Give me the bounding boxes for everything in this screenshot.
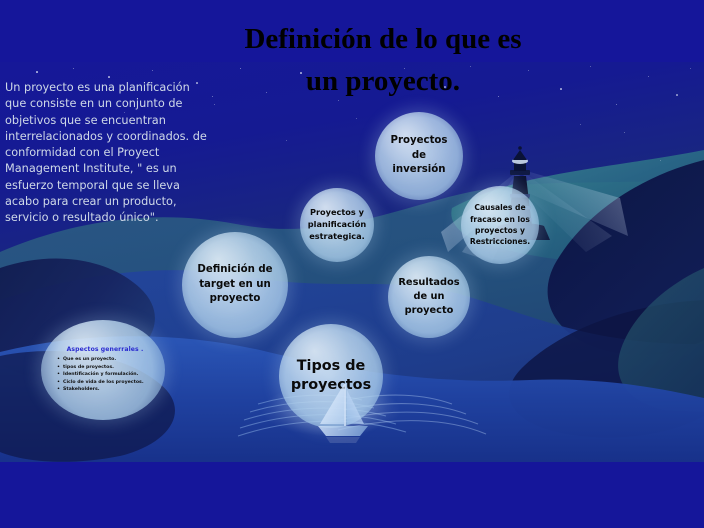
bottom-letterbox-band [0,462,704,528]
aspectos-heading: Aspectos generrales . [51,346,159,353]
bubble-label: Proyectos y planificación estrategica. [302,207,372,243]
list-item: Que es un proyecto. [63,356,159,364]
aspectos-content: Aspectos generrales . Que es un proyecto… [41,346,165,394]
intro-paragraph: Un proyecto es una planificación que con… [5,80,213,226]
prezi-canvas: Definición de lo que es un proyecto. Un … [0,0,704,528]
bubble-definicion-de-target[interactable]: Definición de target en un proyecto [182,232,288,338]
bubble-resultados-de-un-proyecto[interactable]: Resultados de un proyecto [388,256,470,338]
list-item: Identificación y formulación. [63,371,159,379]
bubble-causales-de-fracaso[interactable]: Causales de fracaso en los proyectos y R… [461,186,539,264]
bubble-label: Resultados de un proyecto [392,276,465,319]
bubble-label: Definición de target en un proyecto [191,263,278,307]
aspectos-list: Que es un proyecto. tipos de proyectos. … [51,356,159,394]
sailboat-icon [310,380,380,448]
bubble-proyectos-y-planificacion-estrategica[interactable]: Proyectos y planificación estrategica. [300,188,374,262]
list-item: tipos de proyectos. [63,364,159,372]
page-title: Definición de lo que es un proyecto. [188,18,578,102]
list-item: Ciclo de vida de los proyectos. [63,379,159,387]
list-item: Stakeholders. [63,386,159,394]
bubble-label: Proyectos de inversión [384,134,453,177]
bubble-proyectos-de-inversion[interactable]: Proyectos de inversión [375,112,463,200]
bubble-label: Causales de fracaso en los proyectos y R… [464,202,536,248]
bubble-aspectos-generales[interactable]: Aspectos generrales . Que es un proyecto… [41,320,165,420]
